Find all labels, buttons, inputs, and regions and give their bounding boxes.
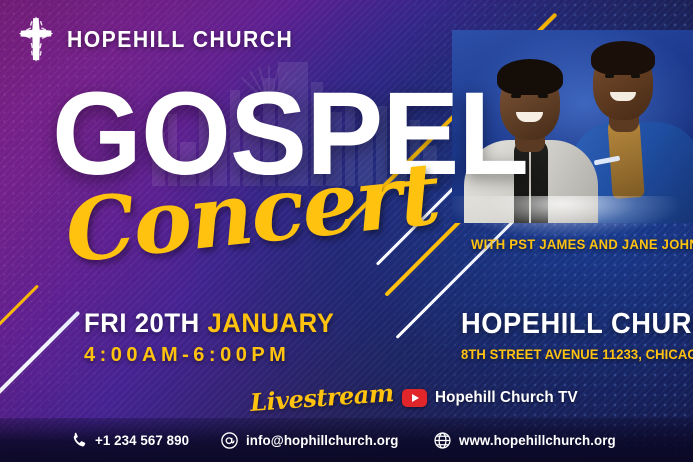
person-woman-eye-right xyxy=(538,94,548,98)
venue-address: 8TH STREET AVENUE 11233, CHICAGO xyxy=(461,346,693,362)
contact-phone[interactable]: +1 234 567 890 xyxy=(69,431,194,450)
youtube-play-icon[interactable] xyxy=(402,389,427,407)
person-man-eye-left xyxy=(605,74,614,78)
person-man-eye-right xyxy=(631,74,640,78)
white-accent-line-left xyxy=(0,311,80,406)
globe-icon xyxy=(433,431,452,450)
contact-email[interactable]: info@hophillchurch.org xyxy=(220,431,407,450)
cross-icon xyxy=(18,16,54,62)
header: HOPEHILL CHURCH xyxy=(18,16,313,62)
contact-footer: +1 234 567 890 info@hophillchurch.org xyxy=(0,418,693,462)
contact-phone-text: +1 234 567 890 xyxy=(95,432,189,448)
person-man-hair xyxy=(591,41,655,75)
venue-name: HOPEHILL CHURCH xyxy=(461,308,693,341)
livestream-channel: Hopehill Church TV xyxy=(435,389,578,407)
headline-block: GOSPEL Concert xyxy=(52,86,538,183)
contact-website[interactable]: www.hopehillchurch.org xyxy=(433,431,624,450)
livestream-row: Livestream Hopehill Church TV xyxy=(250,383,585,412)
speakers-caption: WITH PST JAMES AND JANE JOHNSON xyxy=(471,236,693,252)
gold-accent-line-left xyxy=(0,284,39,354)
contact-website-text: www.hopehillchurch.org xyxy=(459,432,616,448)
livestream-label: Livestream xyxy=(249,378,394,417)
event-date: FRI 20TH JANUARY xyxy=(84,308,334,339)
at-sign-icon xyxy=(220,431,239,450)
event-date-day: FRI 20TH xyxy=(84,308,200,338)
event-date-month: JANUARY xyxy=(207,308,334,338)
gospel-concert-flyer: HOPEHILL CHURCH GOSPEL Concert FRI 20TH … xyxy=(0,0,693,462)
phone-icon xyxy=(69,431,88,450)
contact-email-text: info@hophillchurch.org xyxy=(246,432,398,448)
event-time: 4:00AM-6:00PM xyxy=(84,344,348,367)
brand-name: HOPEHILL CHURCH xyxy=(67,26,293,53)
venue-block: HOPEHILL CHURCH 8TH STREET AVENUE 11233,… xyxy=(461,308,693,362)
event-datetime: FRI 20TH JANUARY 4:00AM-6:00PM xyxy=(84,308,348,367)
